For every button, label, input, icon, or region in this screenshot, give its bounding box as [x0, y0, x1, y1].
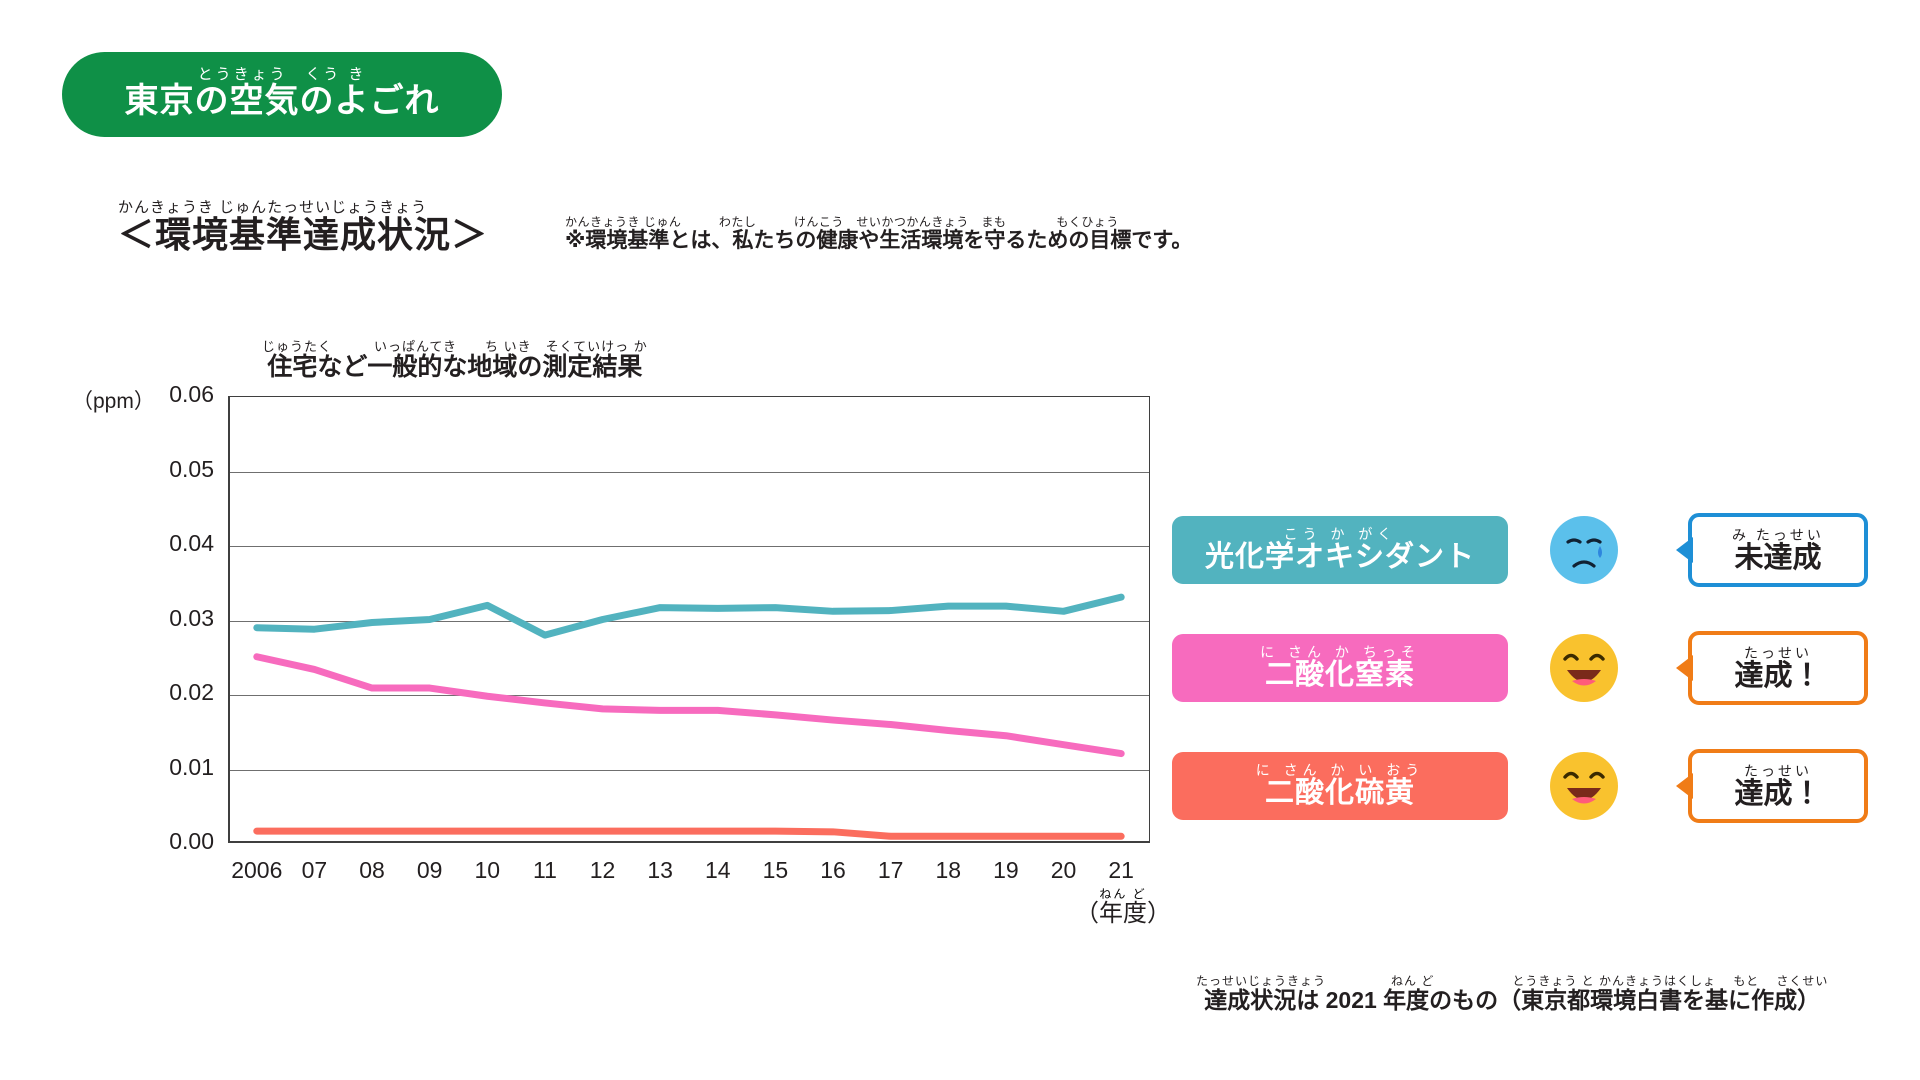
section-heading: かんきょうき じゅんたっせいじょうきょう ＜環境基準達成状況＞ — [118, 200, 488, 253]
bubble-tail — [1676, 655, 1693, 681]
series-layer — [228, 396, 1150, 843]
status-text: 未達成 — [1732, 544, 1824, 573]
section-note-ruby: かんきょうき じゅん わたし けんこう せいかつかんきょう まも もくひょう — [565, 216, 1192, 228]
y-tick-label: 0.01 — [124, 754, 214, 781]
legend-card-1: こう か がく光化学オキシダント — [1172, 516, 1508, 584]
source-note-text: 達成状況は 2021 年度のもの（東京都環境白書を基に作成） — [1196, 989, 1828, 1012]
bubble-tail — [1676, 773, 1693, 799]
legend-card-3: に さん か い おう二酸化硫黄 — [1172, 752, 1508, 820]
chart-title-text: 住宅など一般的な地域の測定結果 — [262, 355, 648, 380]
series-line — [257, 657, 1121, 754]
source-note: たっせいじょうきょう ねん ど とうきょう と かんきょうはくしょ もと さくせ… — [1196, 975, 1828, 1013]
chart-title-ruby: じゅうたく いっぱんてき ち いき そくていけっ か — [262, 340, 648, 353]
status-badge-3: たっせい達成！ — [1688, 749, 1868, 823]
legend-card-2: に さん か ちっそ二酸化窒素 — [1172, 634, 1508, 702]
status-badge-2: たっせい達成！ — [1688, 631, 1868, 705]
infographic-page: とうきょう くう き 東京の空気のよごれ かんきょうき じゅんたっせいじょうきょ… — [0, 0, 1920, 1080]
series-line — [257, 831, 1121, 836]
y-tick-label: 0.05 — [124, 456, 214, 483]
section-heading-ruby: かんきょうき じゅんたっせいじょうきょう — [118, 200, 488, 215]
x-axis-label-text: （年度） — [1075, 902, 1171, 926]
legend-card-ruby: に さん か い おう — [1256, 763, 1425, 777]
status-badge-1: み たっせい未達成 — [1688, 513, 1868, 587]
status-text: 達成！ — [1734, 780, 1821, 809]
y-tick-label: 0.04 — [124, 530, 214, 557]
status-text: 達成！ — [1734, 662, 1821, 691]
section-note-text: ※環境基準とは、私たちの健康や生活環境を守るための目標です。 — [565, 230, 1192, 251]
status-ruby: たっせい — [1734, 764, 1821, 778]
page-title: とうきょう くう き 東京の空気のよごれ — [125, 67, 440, 118]
source-note-ruby: たっせいじょうきょう ねん ど とうきょう と かんきょうはくしょ もと さくせ… — [1196, 975, 1828, 987]
happy-face-icon — [1550, 634, 1618, 702]
legend-card-ruby: に さん か ちっそ — [1260, 645, 1420, 659]
chart-title: じゅうたく いっぱんてき ち いき そくていけっ か 住宅など一般的な地域の測定… — [262, 340, 648, 380]
status-ruby: み たっせい — [1732, 528, 1824, 542]
legend-card-label: 二酸化窒素 — [1260, 661, 1420, 690]
status-ruby: たっせい — [1734, 646, 1821, 660]
y-tick-label: 0.02 — [124, 679, 214, 706]
section-note: かんきょうき じゅん わたし けんこう せいかつかんきょう まも もくひょう ※… — [565, 216, 1192, 252]
page-title-banner: とうきょう くう き 東京の空気のよごれ — [62, 52, 502, 137]
page-title-text: 東京の空気のよごれ — [125, 84, 440, 118]
y-tick-label: 0.00 — [124, 828, 214, 855]
legend-card-label: 二酸化硫黄 — [1256, 779, 1425, 808]
legend-card-label: 光化学オキシダント — [1205, 543, 1475, 572]
x-tick-label: 21 — [1086, 857, 1156, 884]
legend-card-ruby: こう か がく — [1205, 527, 1475, 541]
y-tick-label: 0.06 — [124, 381, 214, 408]
sad-face-icon — [1550, 516, 1618, 584]
bubble-tail — [1676, 537, 1693, 563]
happy-face-icon — [1550, 752, 1618, 820]
series-line — [257, 597, 1121, 635]
page-title-ruby: とうきょう くう き — [125, 67, 440, 82]
x-axis-label-ruby: ねん ど — [1075, 888, 1171, 900]
section-heading-text: ＜環境基準達成状況＞ — [118, 217, 488, 253]
x-axis-label: ねん ど （年度） — [1075, 888, 1171, 926]
y-tick-label: 0.03 — [124, 605, 214, 632]
